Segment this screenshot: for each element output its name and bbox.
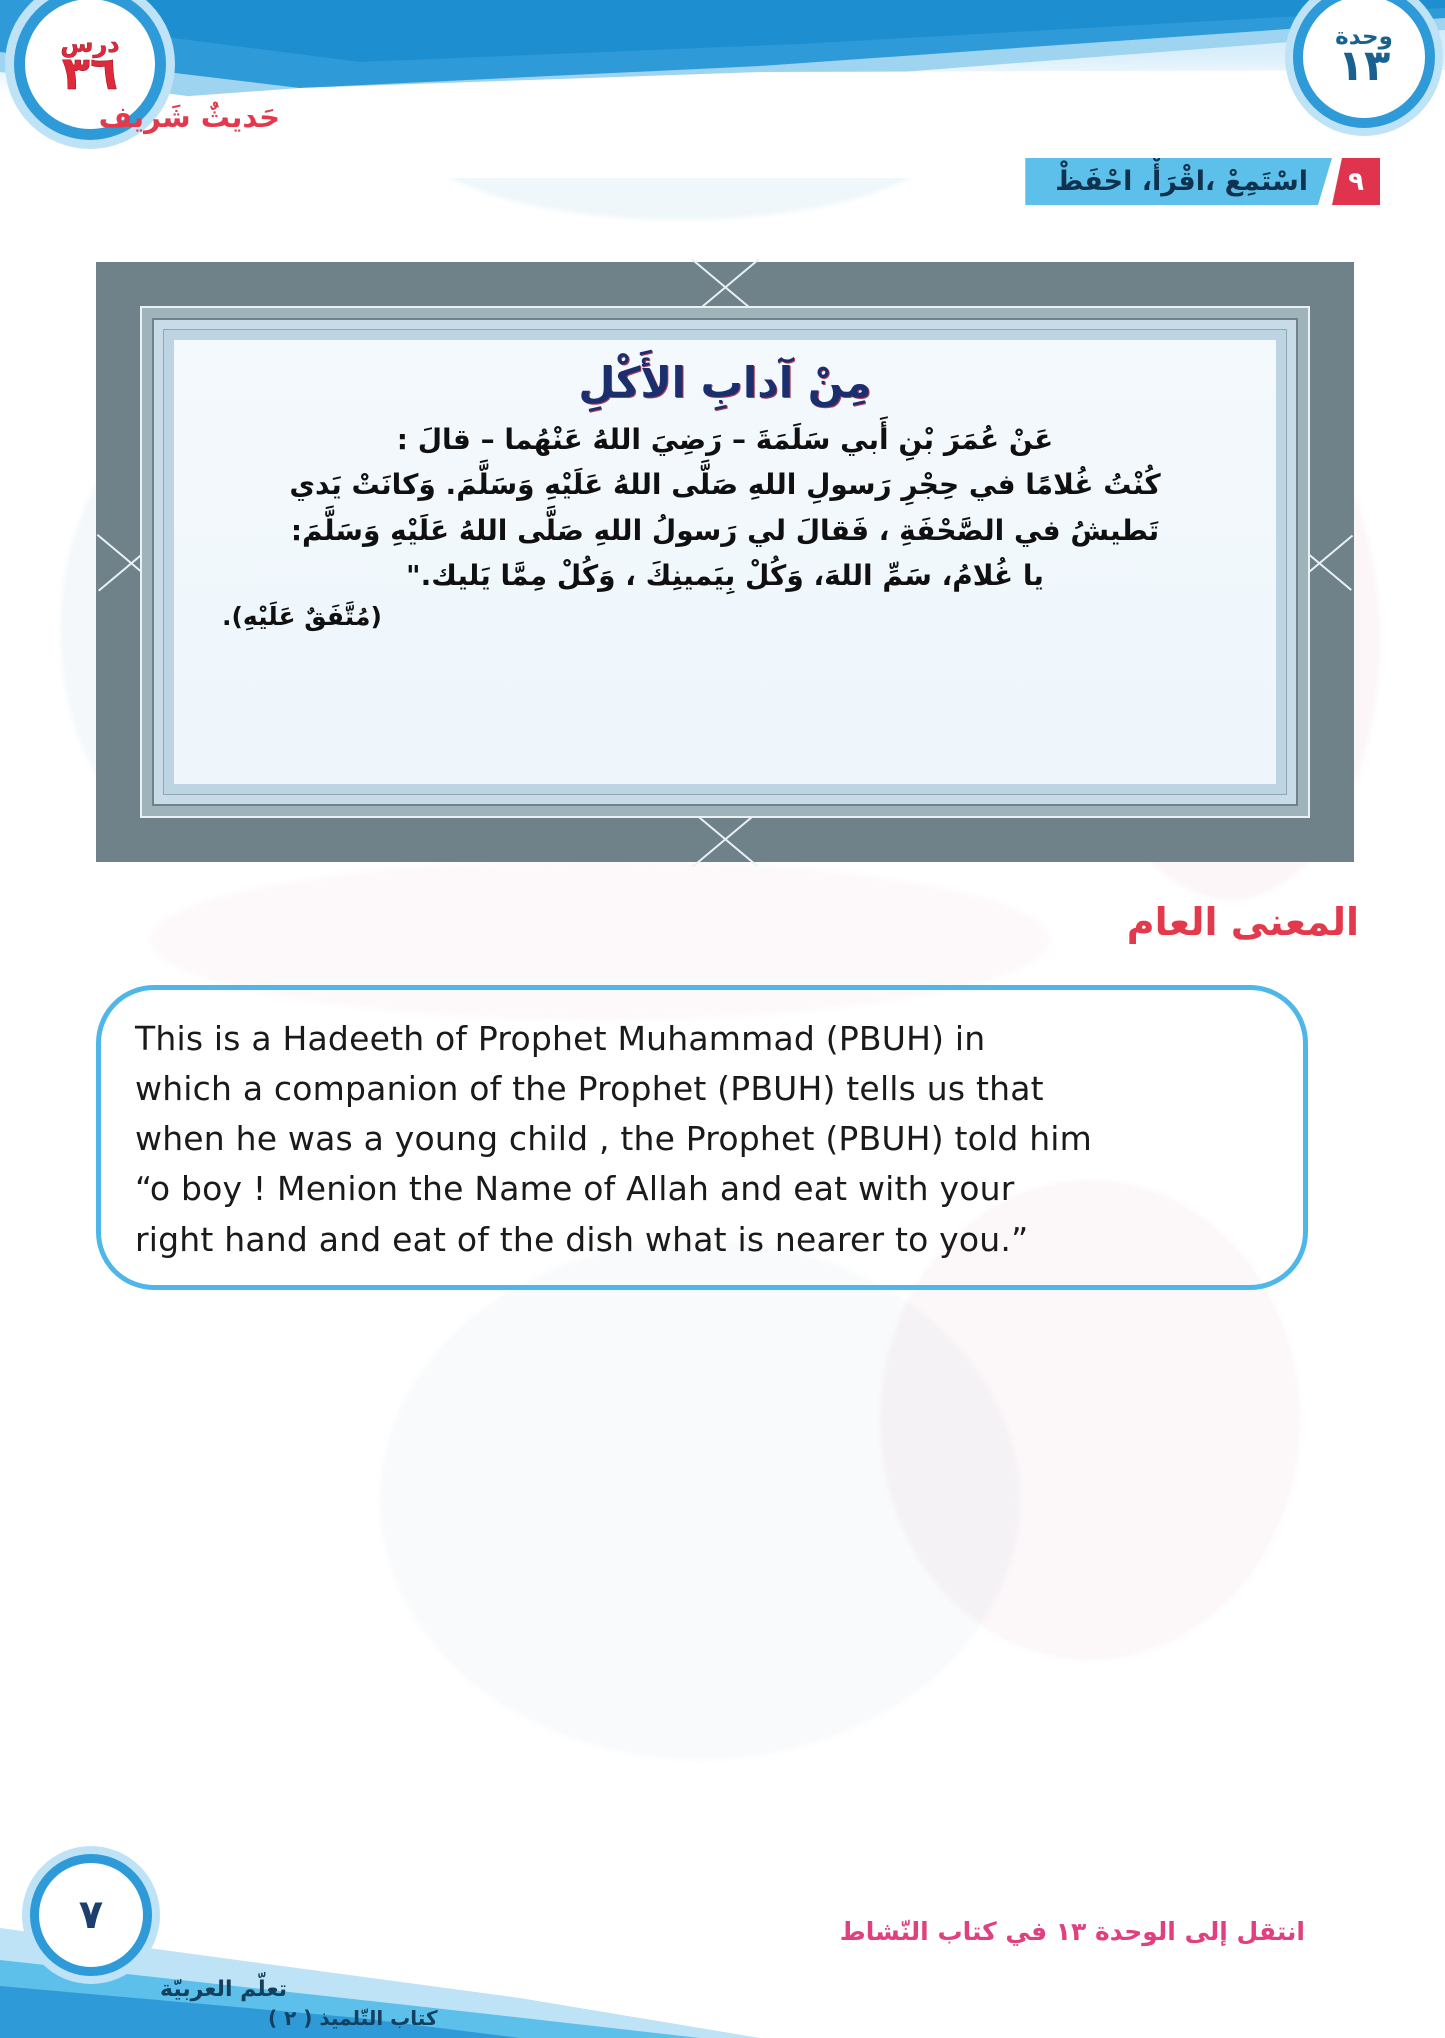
english-meaning-line: when he was a young child , the Prophet …: [135, 1114, 1265, 1164]
hadith-line: يا غُلامُ، سَمِّ اللهَ، وَكُلْ بِيَمينِك…: [210, 553, 1240, 598]
page-number-badge: ٧: [30, 1854, 152, 1976]
english-meaning-box: This is a Hadeeth of Prophet Muhammad (P…: [96, 985, 1308, 1290]
page-header: درس ٣٦ وحدة ١٣ حَديثٌ شَريف: [0, 0, 1445, 178]
hadith-line: عَنْ عُمَرَ بْنِ أَبي سَلَمَةَ – رَضِيَ …: [210, 417, 1240, 462]
general-meaning-heading: المعنى العام: [1127, 900, 1359, 944]
lesson-badge-number: ٣٦: [62, 52, 118, 95]
english-meaning-line: This is a Hadeeth of Prophet Muhammad (P…: [135, 1014, 1265, 1064]
hadith-paper: مِنْ آدابِ الأَكْلِ عَنْ عُمَرَ بْنِ أَب…: [174, 340, 1276, 784]
hadith-title: مِنْ آدابِ الأَكْلِ: [174, 358, 1276, 407]
page-footer: ٧ تعلّم العربيّة كتاب التّلميذ ( ٢ ) انت…: [0, 1848, 1445, 2038]
english-meaning-line: “o boy ! Menion the Name of Allah and ea…: [135, 1164, 1265, 1214]
exercise-banner: ٩ اسْتَمِعْ ،اقْرَأْ، احْفَظْ: [1025, 158, 1380, 205]
exercise-number-tab: ٩: [1332, 158, 1380, 205]
hadith-line: كُنْتُ غُلامًا في حِجْرِ رَسولِ اللهِ صَ…: [210, 462, 1240, 507]
footer-book-title: كتاب التّلميذ ( ٢ ): [268, 2006, 438, 2030]
hadith-line: تَطيشُ في الصَّحْفَةِ ، فَقالَ لي رَسولُ…: [210, 508, 1240, 553]
english-meaning-line: right hand and eat of the dish what is n…: [135, 1215, 1265, 1265]
frame-x-decoration-bottom: [692, 810, 758, 866]
frame-inset-three: مِنْ آدابِ الأَكْلِ عَنْ عُمَرَ بْنِ أَب…: [163, 329, 1287, 795]
frame-inset-one: مِنْ آدابِ الأَكْلِ عَنْ عُمَرَ بْنِ أَب…: [140, 306, 1310, 818]
hadith-frame: مِنْ آدابِ الأَكْلِ عَنْ عُمَرَ بْنِ أَب…: [96, 262, 1354, 862]
english-meaning-line: which a companion of the Prophet (PBUH) …: [135, 1064, 1265, 1114]
exercise-label: اسْتَمِعْ ،اقْرَأْ، احْفَظْ: [1025, 158, 1332, 205]
header-subtitle: حَديثٌ شَريف: [99, 100, 280, 134]
hadith-source: (مُتَّفَقٌ عَلَيْهِ).: [174, 598, 1276, 631]
footer-brand: تعلّم العربيّة: [160, 1977, 287, 2002]
frame-outer-border: مِنْ آدابِ الأَكْلِ عَنْ عُمَرَ بْنِ أَب…: [96, 262, 1354, 862]
footer-activity-note: انتقل إلى الوحدة ١٣ في كتاب النّشاط: [840, 1917, 1305, 1946]
hadith-body: عَنْ عُمَرَ بْنِ أَبي سَلَمَةَ – رَضِيَ …: [174, 417, 1276, 598]
frame-inset-two: مِنْ آدابِ الأَكْلِ عَنْ عُمَرَ بْنِ أَب…: [152, 318, 1298, 806]
unit-badge-number: ١٣: [1338, 46, 1391, 86]
